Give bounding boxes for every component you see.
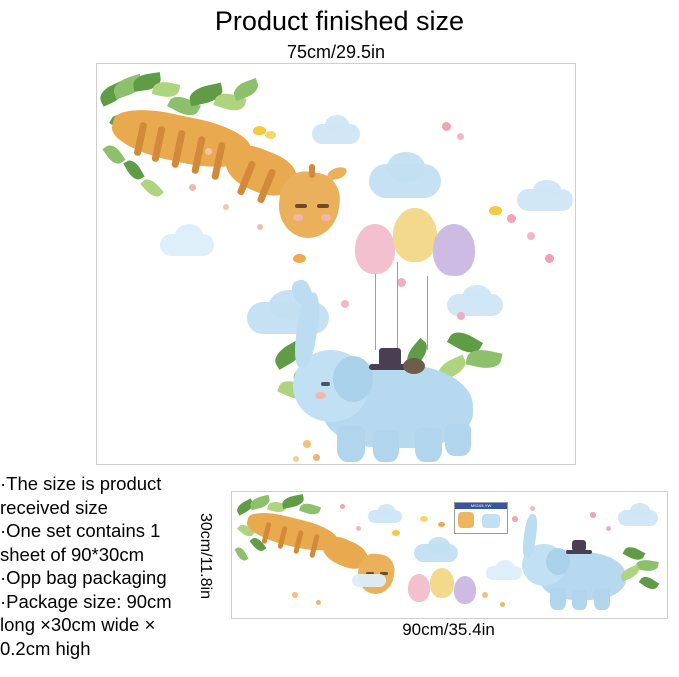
giraffe-eye — [317, 204, 329, 208]
elephant-leg — [572, 590, 587, 610]
elephant-leg — [337, 426, 365, 462]
elephant-eye — [321, 382, 330, 386]
cloud-icon — [378, 504, 395, 517]
note-line: ·Package size: 90cm — [0, 590, 212, 614]
sheet-height-dimension: 30cm/11.8in — [196, 513, 214, 599]
elephant-leg — [445, 424, 471, 456]
butterfly-icon — [293, 254, 306, 263]
leaf-icon — [123, 157, 144, 182]
flower-icon — [356, 526, 361, 531]
flower-icon — [530, 506, 535, 511]
elephant-cheek — [315, 392, 326, 399]
balloon-string — [375, 274, 376, 350]
leaf-icon — [639, 574, 660, 592]
elephant-leg — [550, 588, 566, 610]
cloud-icon — [325, 115, 349, 135]
giraffe-eye — [295, 204, 307, 208]
butterfly-icon — [438, 522, 445, 527]
cloud-icon — [352, 574, 386, 587]
balloon-string — [427, 276, 428, 350]
flower-icon — [205, 148, 212, 155]
main-width-dimension: 75cm/29.5in — [96, 41, 576, 63]
main-preview-box — [96, 63, 576, 465]
flower-icon — [606, 526, 611, 531]
size-notes: ·The size is product received size ·One … — [0, 472, 212, 660]
flower-icon — [545, 254, 554, 263]
elephant-leg — [373, 430, 399, 462]
butterfly-icon — [392, 530, 400, 536]
balloon-yellow — [430, 568, 454, 598]
balloon-pink — [355, 224, 395, 274]
hat-crown — [572, 540, 586, 551]
flower-icon — [223, 204, 229, 210]
product-size-infographic: Product finished size 75cm/29.5in 65cm/2… — [0, 0, 679, 677]
cloud-icon — [533, 180, 561, 200]
giraffe-cheek — [321, 214, 331, 221]
flower-icon — [457, 133, 464, 140]
flower-icon — [257, 224, 263, 230]
cloud-icon — [463, 285, 491, 305]
label-giraffe-thumb — [458, 512, 474, 528]
note-line: 0.2cm high — [0, 637, 212, 661]
note-line: ·One set contains 1 — [0, 519, 212, 543]
flower-icon — [442, 122, 451, 131]
leaf-icon — [140, 176, 164, 200]
flower-icon — [457, 312, 465, 320]
flower-icon — [313, 454, 320, 461]
cloud-icon — [428, 537, 450, 554]
cloud-icon — [387, 152, 425, 182]
flower-icon — [527, 232, 535, 240]
butterfly-icon — [420, 516, 428, 522]
giraffe-horn — [309, 164, 315, 178]
leaf-icon — [102, 142, 125, 167]
sheet-width-dimension: 90cm/35.4in — [231, 620, 666, 640]
elephant-leg — [594, 589, 610, 610]
flower-icon — [303, 440, 311, 448]
flower-icon — [590, 512, 596, 518]
flower-icon — [507, 214, 516, 223]
balloon-purple — [433, 224, 475, 276]
balloon-yellow — [393, 208, 437, 262]
leaf-icon — [299, 501, 321, 517]
note-line: ·Opp bag packaging — [0, 566, 212, 590]
flower-icon — [189, 184, 196, 191]
elephant-ear — [333, 356, 373, 402]
flower-icon — [482, 592, 488, 598]
flower-icon — [316, 600, 321, 605]
leaf-icon — [234, 546, 248, 563]
leaf-icon — [231, 78, 261, 101]
balloon-pink — [408, 574, 430, 602]
giraffe-cheek — [293, 214, 303, 221]
elephant-leg — [415, 428, 442, 462]
cloud-icon — [175, 224, 203, 246]
balloon-purple — [454, 576, 476, 604]
balloon-string — [397, 262, 398, 350]
cloud-icon — [630, 503, 650, 518]
bird-body — [403, 358, 425, 374]
note-line: long ×30cm wide × — [0, 613, 212, 637]
note-line: received size — [0, 496, 212, 520]
page-title: Product finished size — [0, 6, 679, 36]
flower-icon — [341, 300, 349, 308]
hat-crown — [379, 348, 401, 366]
flower-icon — [340, 504, 345, 509]
note-line: ·The size is product — [0, 472, 212, 496]
flower-icon — [500, 602, 505, 607]
note-line: sheet of 90*30cm — [0, 543, 212, 567]
cloud-icon — [496, 560, 514, 574]
flower-icon — [292, 592, 298, 598]
sheet-inner-label-code: MS105-YW — [455, 503, 507, 509]
sheet-preview-box: MS105-YW — [231, 491, 668, 619]
butterfly-icon — [265, 131, 276, 139]
butterfly-icon — [489, 206, 502, 215]
flower-icon — [512, 516, 518, 522]
flower-icon — [397, 278, 406, 287]
flower-icon — [293, 456, 299, 462]
label-elephant-thumb — [482, 514, 500, 528]
